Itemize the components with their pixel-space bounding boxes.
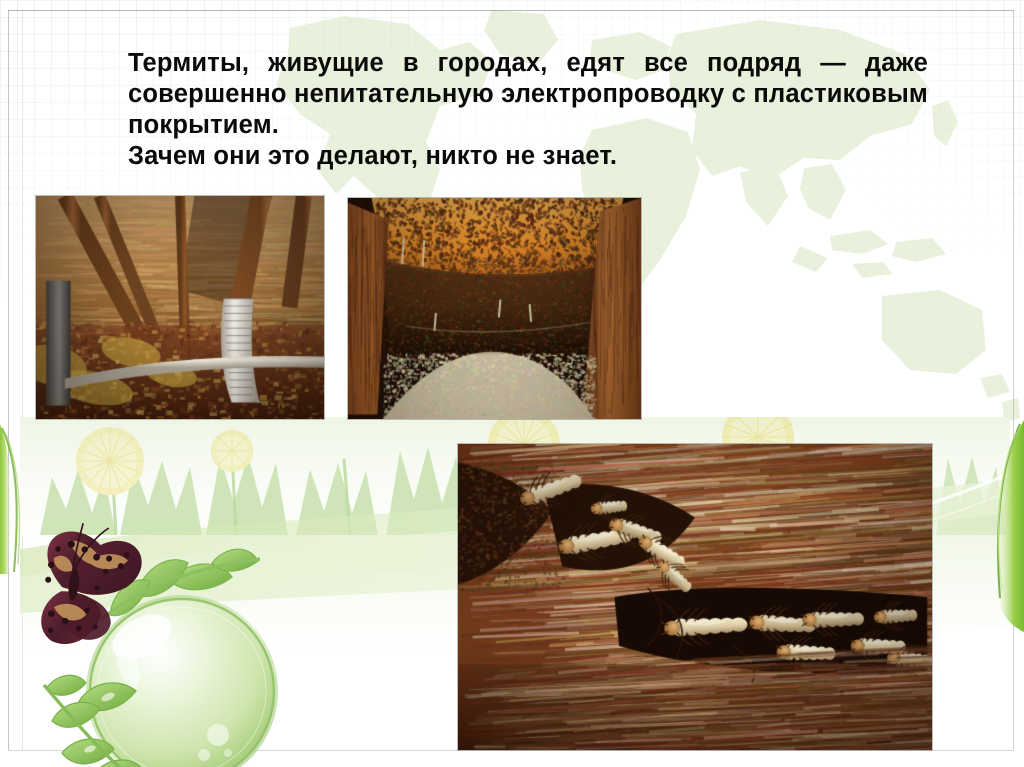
- photo-attic-crawlspace: [36, 196, 324, 419]
- frame-line-top: [8, 10, 1014, 11]
- body-paragraph-1: Термиты, живущие в городах, едят все под…: [128, 48, 928, 141]
- photo-termites-closeup: [458, 444, 932, 750]
- frame-line-right: [1013, 10, 1014, 750]
- frame-line-bottom: [8, 750, 1014, 751]
- frame-line-inner-left: [22, 10, 23, 750]
- butterfly: [23, 513, 156, 650]
- frame-line-left: [8, 10, 9, 750]
- body-paragraph-2: Зачем они это делают, никто не знает.: [128, 141, 928, 172]
- sphere-leaves-bottom: [46, 675, 170, 767]
- leaf-strip-right-icon: [978, 420, 1024, 632]
- slide: Термиты, живущие в городах, едят все под…: [0, 0, 1024, 767]
- slide-body-text: Термиты, живущие в городах, едят все под…: [128, 48, 928, 172]
- photo-termite-infestation: [348, 198, 641, 419]
- glass-sphere: [44, 549, 278, 767]
- sphere-leaves-top: [110, 549, 258, 615]
